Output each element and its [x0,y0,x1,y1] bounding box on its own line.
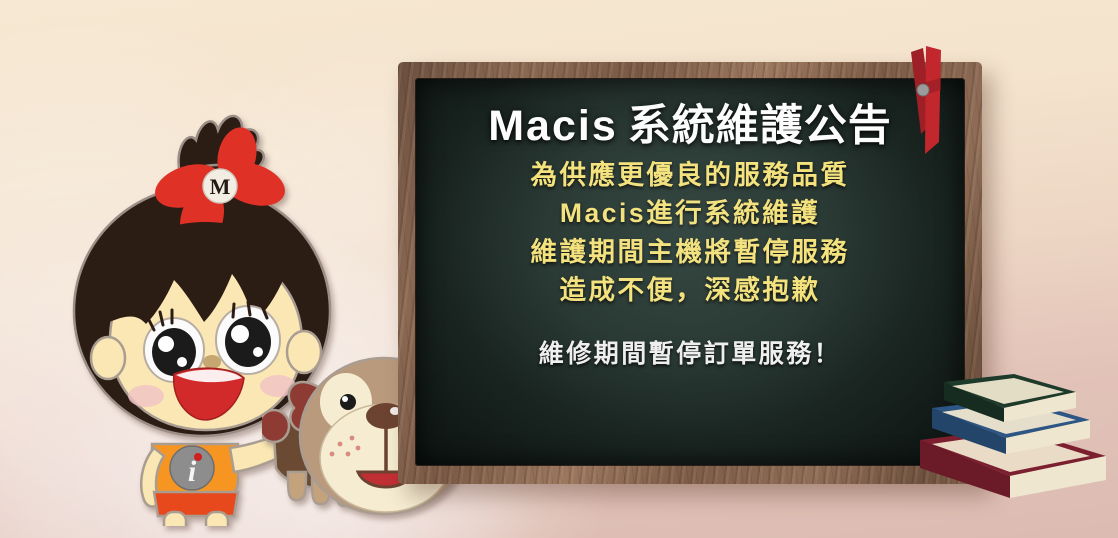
headline-han: 系統維護公告 [628,102,892,150]
body-line-2: Macis進行系統維護 [416,194,964,232]
dog-tail [262,410,289,442]
girl-ear-left [91,337,125,379]
text-spacer [416,309,964,337]
girl-leg-right [206,512,228,526]
girl-leg-left [164,512,186,526]
announcement-text: Macis系統維護公告 為供應更優良的服務品質 Macis進行系統維護 維護期間… [416,79,964,372]
girl-nose [203,355,221,369]
dog-eye-left [340,394,356,410]
book-stack [918,372,1108,517]
girl-badge-letter: i [188,455,197,488]
body-line-3: 維護期間主機將暫停服務 [416,233,964,271]
page-title: Macis系統維護公告 [416,103,964,150]
headline-latin: Macis [488,102,618,150]
announcement-banner: M [0,0,1118,538]
clip-leg-front [925,46,941,154]
blackboard-surface: Macis系統維護公告 為供應更優良的服務品質 Macis進行系統維護 維護期間… [416,79,964,465]
clip-pivot [917,84,929,96]
body-line-4: 造成不便，深感抱歉 [416,271,964,309]
dog-leg-1 [288,472,306,500]
girl-cheek-left [128,385,164,407]
clothespin-clip[interactable] [893,38,963,158]
body-line-1: 為供應更優良的服務品質 [416,156,964,194]
footer-line-1: 維修期間暫停訂單服務！ [416,337,964,372]
girl-shorts [154,492,238,516]
girl-bow-logo-letter: M [210,174,231,199]
